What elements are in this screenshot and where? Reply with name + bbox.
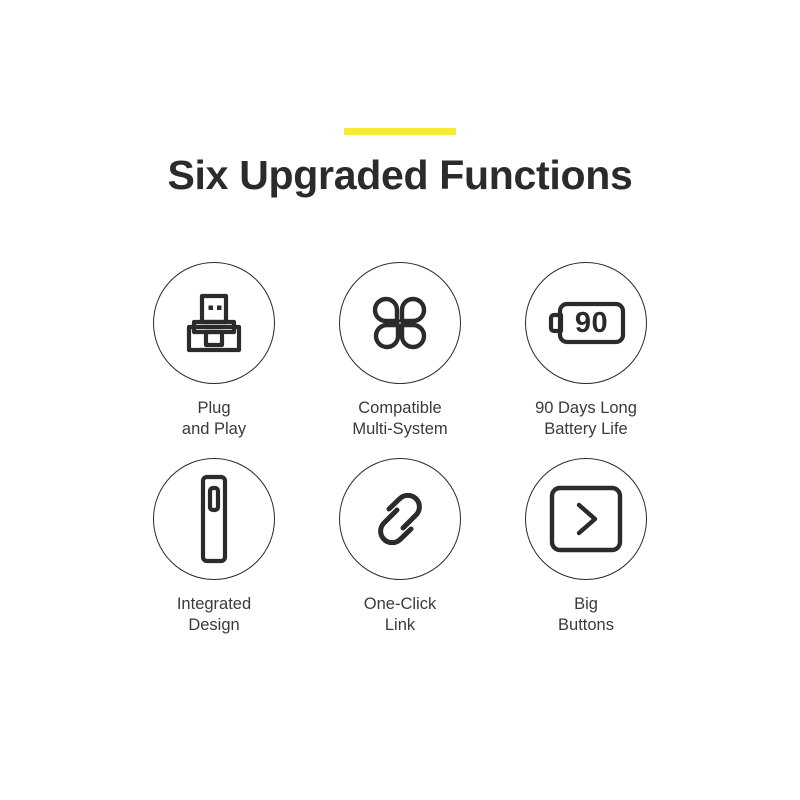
feature-label: Compatible Multi-System xyxy=(352,398,447,440)
feature-label: 90 Days Long Battery Life xyxy=(535,398,637,440)
feature-label: Integrated Design xyxy=(177,594,251,636)
integrated-stick-icon xyxy=(194,473,234,565)
icon-circle xyxy=(339,262,461,384)
feature-item-plug-and-play: Plug and Play xyxy=(121,262,307,440)
icon-circle xyxy=(525,458,647,580)
feature-item-big-buttons: Big Buttons xyxy=(493,458,679,636)
feature-item-compatible-multi-system: Compatible Multi-System xyxy=(307,262,493,440)
clover-multi-system-icon xyxy=(364,287,436,359)
feature-label: Big Buttons xyxy=(558,594,614,636)
feature-label: One-Click Link xyxy=(364,594,436,636)
icon-circle: 90 xyxy=(525,262,647,384)
battery-icon: 90 xyxy=(545,296,627,350)
icon-circle xyxy=(153,262,275,384)
feature-item-battery-life: 90 90 Days Long Battery Life xyxy=(493,262,679,440)
icon-circle xyxy=(339,458,461,580)
battery-percent-text: 90 xyxy=(560,296,623,350)
title-accent-bar xyxy=(344,128,456,135)
chain-link-icon xyxy=(364,483,436,555)
promo-feature-page: Six Upgraded Functions xyxy=(0,0,800,800)
feature-item-one-click-link: One-Click Link xyxy=(307,458,493,636)
feature-item-integrated-design: Integrated Design xyxy=(121,458,307,636)
usb-plug-icon xyxy=(177,286,251,360)
button-chevron-icon xyxy=(548,484,624,554)
page-title: Six Upgraded Functions xyxy=(0,152,800,199)
feature-label: Plug and Play xyxy=(182,398,246,440)
feature-grid: Plug and Play Compat xyxy=(120,262,680,636)
icon-circle xyxy=(153,458,275,580)
